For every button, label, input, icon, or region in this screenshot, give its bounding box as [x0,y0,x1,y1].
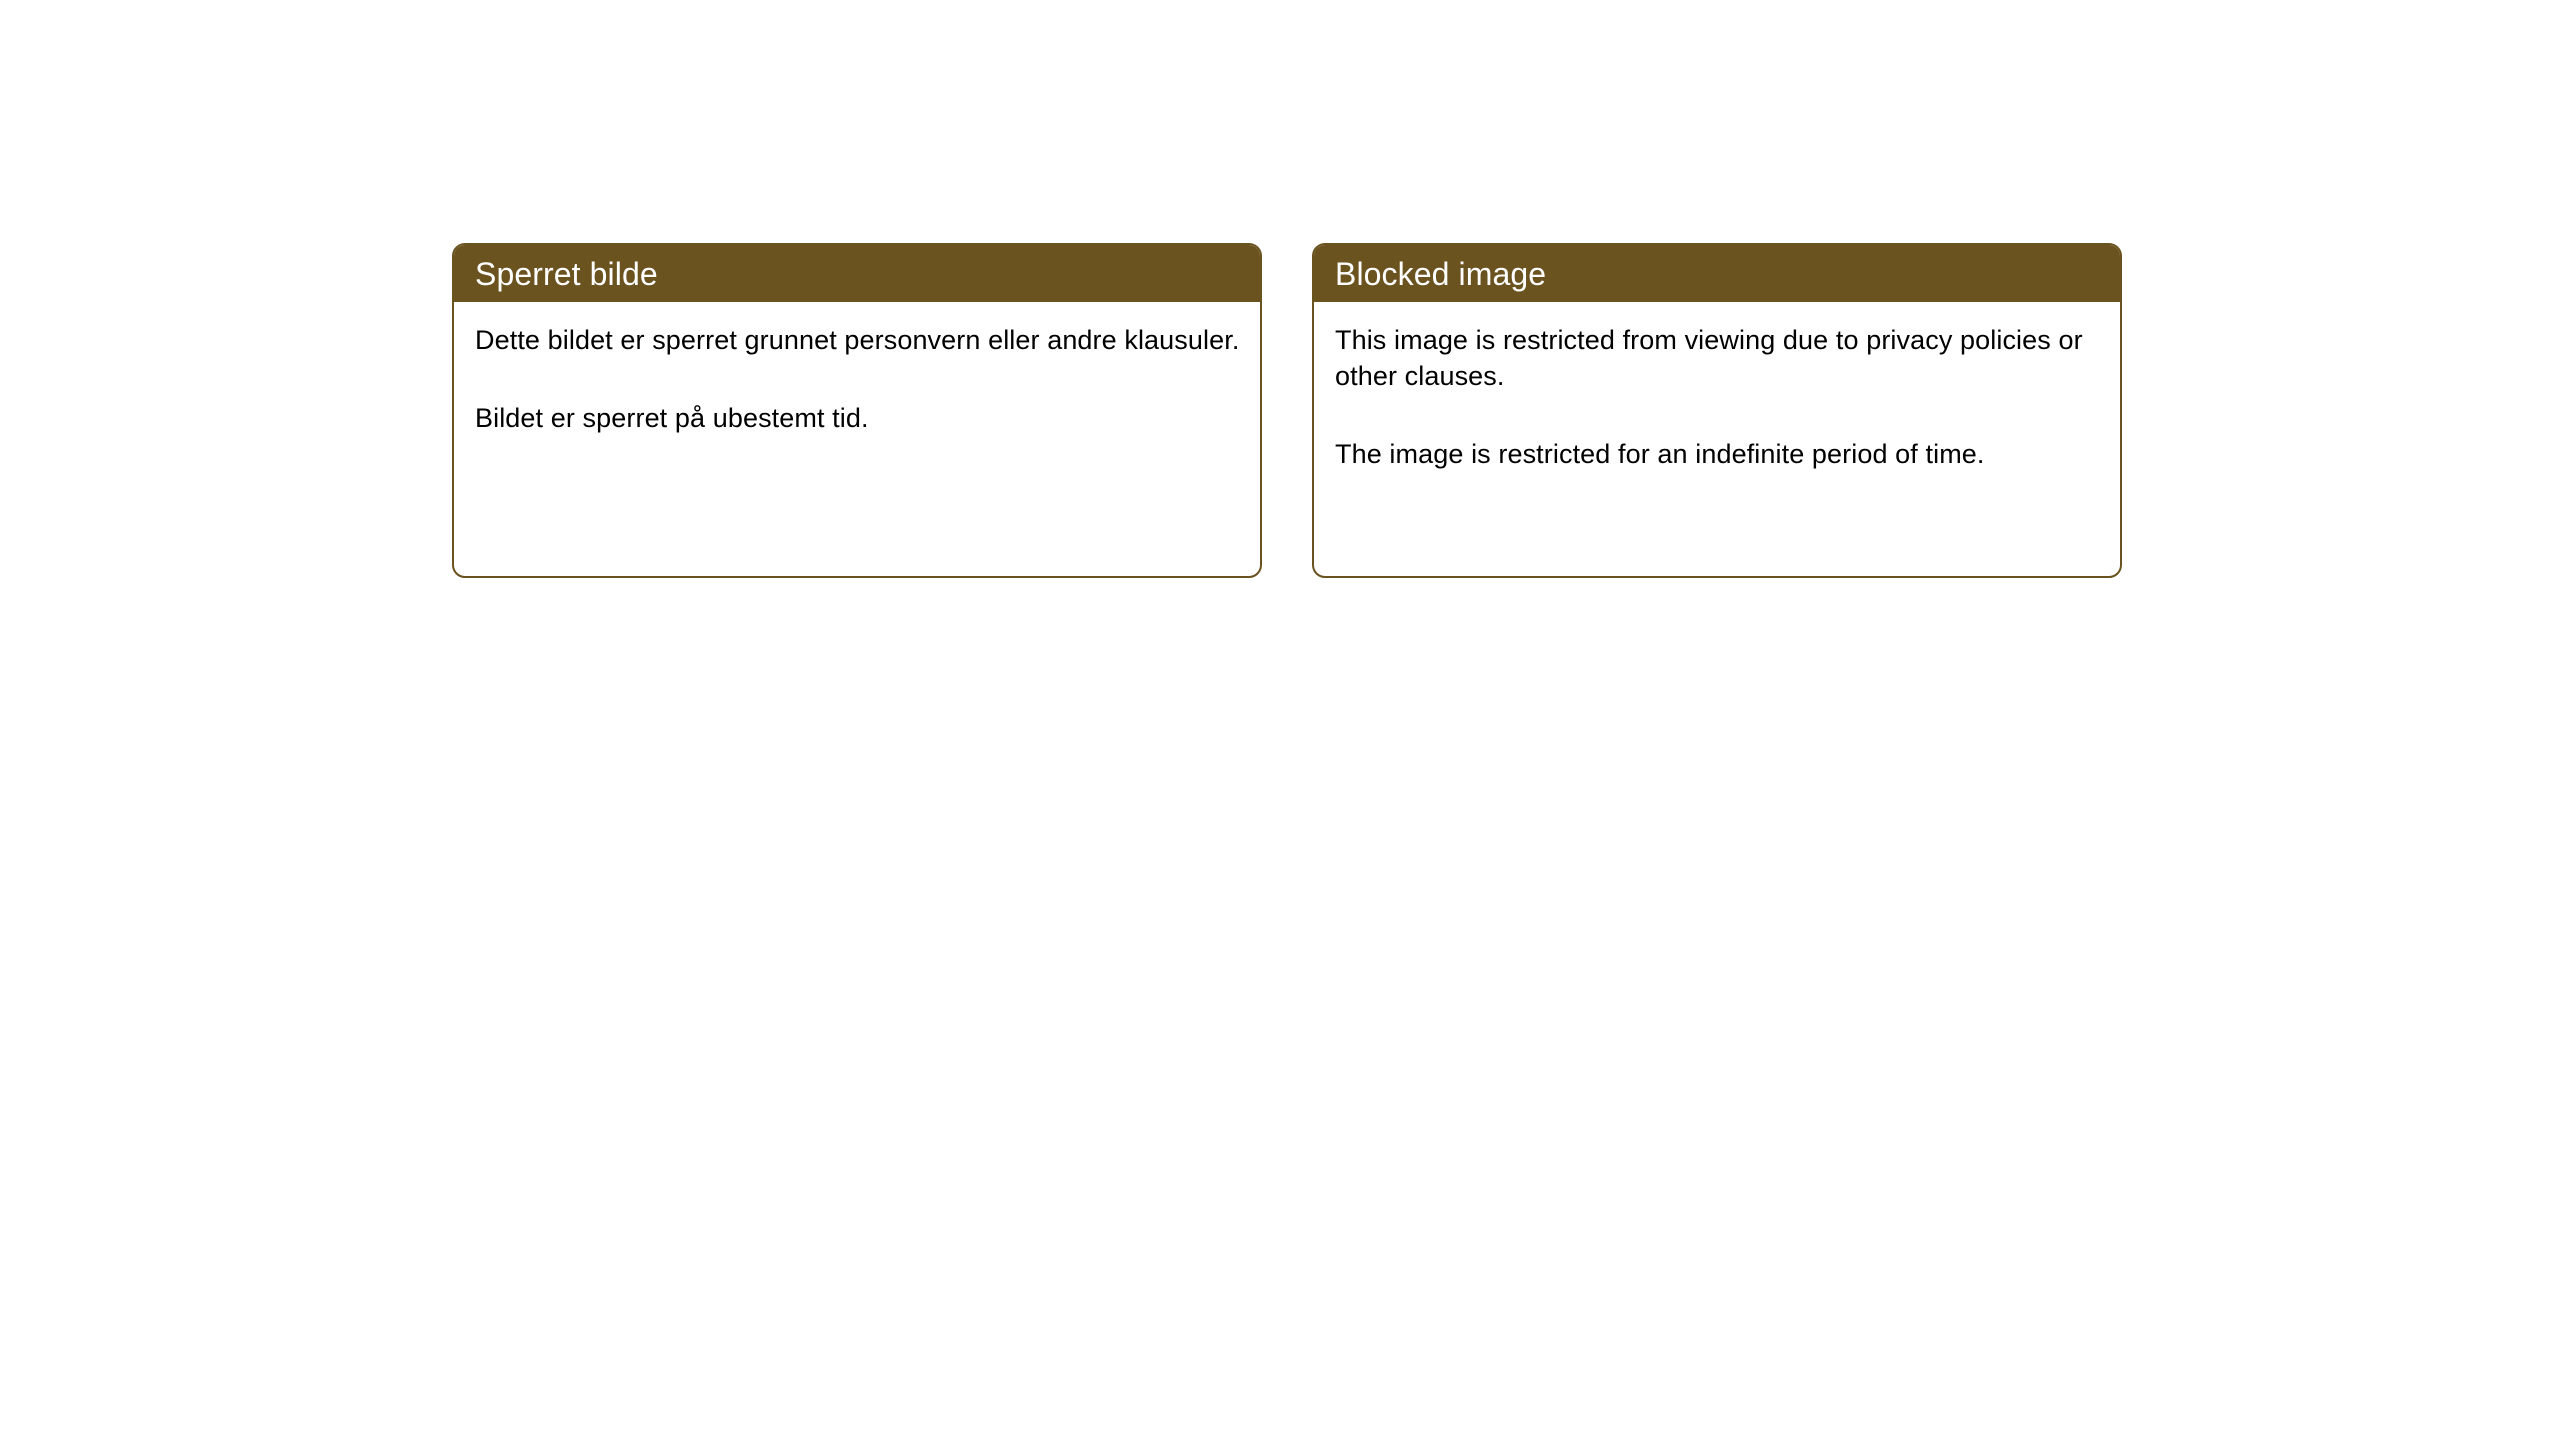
panel-title-en: Blocked image [1335,258,1546,290]
panel-paragraph-no-2: Bildet er sperret på ubestemt tid. [475,400,1240,436]
page-canvas: Sperret bilde Dette bildet er sperret gr… [0,0,2560,1440]
panel-body-en: This image is restricted from viewing du… [1314,302,2120,472]
blocked-image-notice-no: Sperret bilde Dette bildet er sperret gr… [452,243,1262,578]
panel-header-no: Sperret bilde [454,245,1260,302]
panel-header-en: Blocked image [1314,245,2120,302]
panel-paragraph-en-2: The image is restricted for an indefinit… [1335,436,2100,472]
panel-paragraph-en-1: This image is restricted from viewing du… [1335,322,2100,394]
panel-title-no: Sperret bilde [475,258,658,290]
panel-paragraph-no-1: Dette bildet er sperret grunnet personve… [475,322,1240,358]
blocked-image-notice-en: Blocked image This image is restricted f… [1312,243,2122,578]
panel-body-no: Dette bildet er sperret grunnet personve… [454,302,1260,436]
